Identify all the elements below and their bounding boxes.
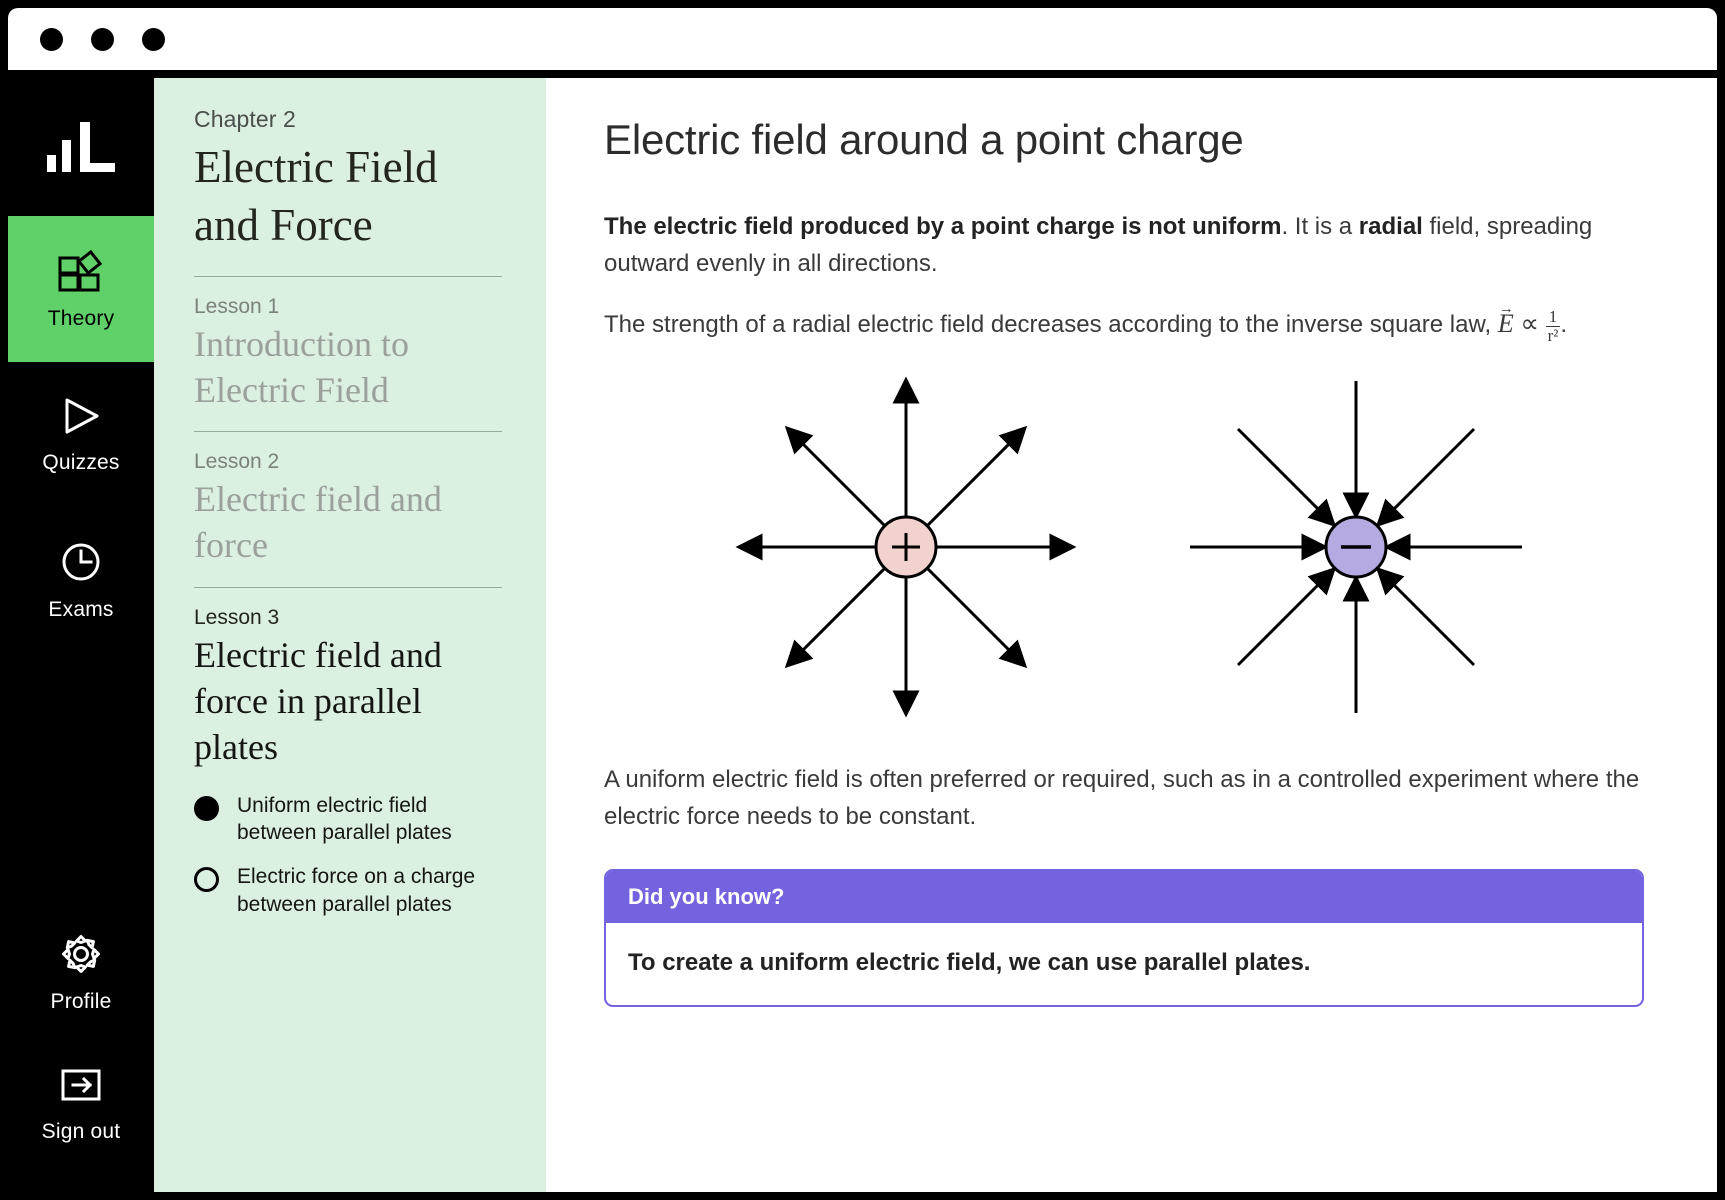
formula-denominator: r²	[1546, 327, 1561, 345]
lesson-item-3[interactable]: Lesson 3 Electric field and force in par…	[194, 606, 502, 919]
formula-numerator: 1	[1546, 308, 1561, 327]
divider	[194, 431, 502, 432]
page-title: Electric field around a point charge	[604, 116, 1657, 164]
section-item-electric-force[interactable]: Electric force on a charge between paral…	[194, 863, 502, 918]
paragraph-inverse-square-lead: The strength of a radial electric field …	[604, 311, 1498, 338]
negative-point-charge	[1166, 367, 1546, 727]
sidebar-item-exams-label: Exams	[48, 598, 113, 622]
app-shell: Theory Quizzes Exams	[8, 78, 1717, 1192]
paragraph-intro: The electric field produced by a point c…	[604, 208, 1644, 282]
sidebar-item-quizzes[interactable]: Quizzes	[8, 362, 154, 508]
sidebar-item-exams[interactable]: Exams	[8, 508, 154, 654]
positive-point-charge	[716, 367, 1096, 727]
section-item-uniform-field-label: Uniform electric field between parallel …	[237, 792, 502, 847]
section-item-uniform-field[interactable]: Uniform electric field between parallel …	[194, 792, 502, 847]
lesson-item-2-label: Lesson 2	[194, 450, 502, 474]
formula-vector-e: →E	[1498, 304, 1514, 344]
maximize-dot[interactable]	[142, 28, 165, 51]
divider	[194, 587, 502, 588]
did-you-know-callout: Did you know? To create a uniform electr…	[604, 869, 1644, 1007]
vector-arrow-icon: →	[1499, 302, 1517, 317]
lesson-item-2[interactable]: Lesson 2 Electric field and force	[194, 450, 502, 568]
window-titlebar	[8, 8, 1717, 70]
radial-electric-field-diagram	[604, 367, 1657, 727]
gear-icon	[60, 933, 102, 980]
paragraph-intro-mid: . It is a	[1281, 213, 1358, 240]
sidebar-item-profile[interactable]: Profile	[8, 900, 154, 1046]
sidebar-item-sign-out-label: Sign out	[42, 1120, 121, 1144]
sidebar-item-theory[interactable]: Theory	[8, 216, 154, 362]
chapter-title: Electric Field and Force	[194, 139, 502, 254]
paragraph-inverse-square: The strength of a radial electric field …	[604, 304, 1644, 344]
bullet-hollow-icon	[194, 867, 219, 892]
bullet-filled-icon	[194, 796, 219, 821]
lesson-item-1-label: Lesson 1	[194, 295, 502, 319]
paragraph-intro-bold-lead: The electric field produced by a point c…	[604, 213, 1281, 240]
paragraph-intro-bold-mid: radial	[1359, 213, 1423, 240]
main-content: Electric field around a point charge The…	[546, 78, 1717, 1192]
close-dot[interactable]	[40, 28, 63, 51]
app-window: Theory Quizzes Exams	[0, 0, 1725, 1200]
divider	[194, 276, 502, 277]
lesson-panel: Chapter 2 Electric Field and Force Lesso…	[154, 78, 546, 1192]
chapter-label: Chapter 2	[194, 106, 502, 133]
section-item-electric-force-label: Electric force on a charge between paral…	[237, 863, 502, 918]
clock-icon	[60, 541, 102, 588]
sidebar-item-profile-label: Profile	[51, 990, 112, 1014]
play-icon	[60, 396, 102, 441]
did-you-know-heading: Did you know?	[606, 871, 1642, 923]
sign-out-icon	[59, 1065, 103, 1110]
blocks-icon	[58, 248, 104, 297]
lesson-item-3-label: Lesson 3	[194, 606, 502, 630]
sidebar-item-sign-out[interactable]: Sign out	[8, 1046, 154, 1192]
lesson-item-3-title: Electric field and force in parallel pla…	[194, 632, 502, 770]
sidebar-spacer	[8, 654, 154, 900]
app-logo[interactable]	[8, 78, 154, 216]
sidebar-item-quizzes-label: Quizzes	[42, 451, 119, 475]
formula-fraction: 1r²	[1546, 308, 1561, 345]
paragraph-inverse-square-tail: .	[1560, 311, 1567, 338]
minimize-dot[interactable]	[91, 28, 114, 51]
lesson-item-1-title: Introduction to Electric Field	[194, 321, 502, 413]
sidebar-nav: Theory Quizzes Exams	[8, 78, 154, 1192]
lesson-item-1[interactable]: Lesson 1 Introduction to Electric Field	[194, 295, 502, 413]
lesson-item-2-title: Electric field and force	[194, 476, 502, 568]
sidebar-item-theory-label: Theory	[48, 307, 115, 331]
formula-proportional-icon: ∝	[1520, 309, 1539, 338]
did-you-know-body: To create a uniform electric field, we c…	[606, 923, 1642, 1005]
section-list: Uniform electric field between parallel …	[194, 792, 502, 919]
paragraph-uniform-field: A uniform electric field is often prefer…	[604, 761, 1644, 835]
